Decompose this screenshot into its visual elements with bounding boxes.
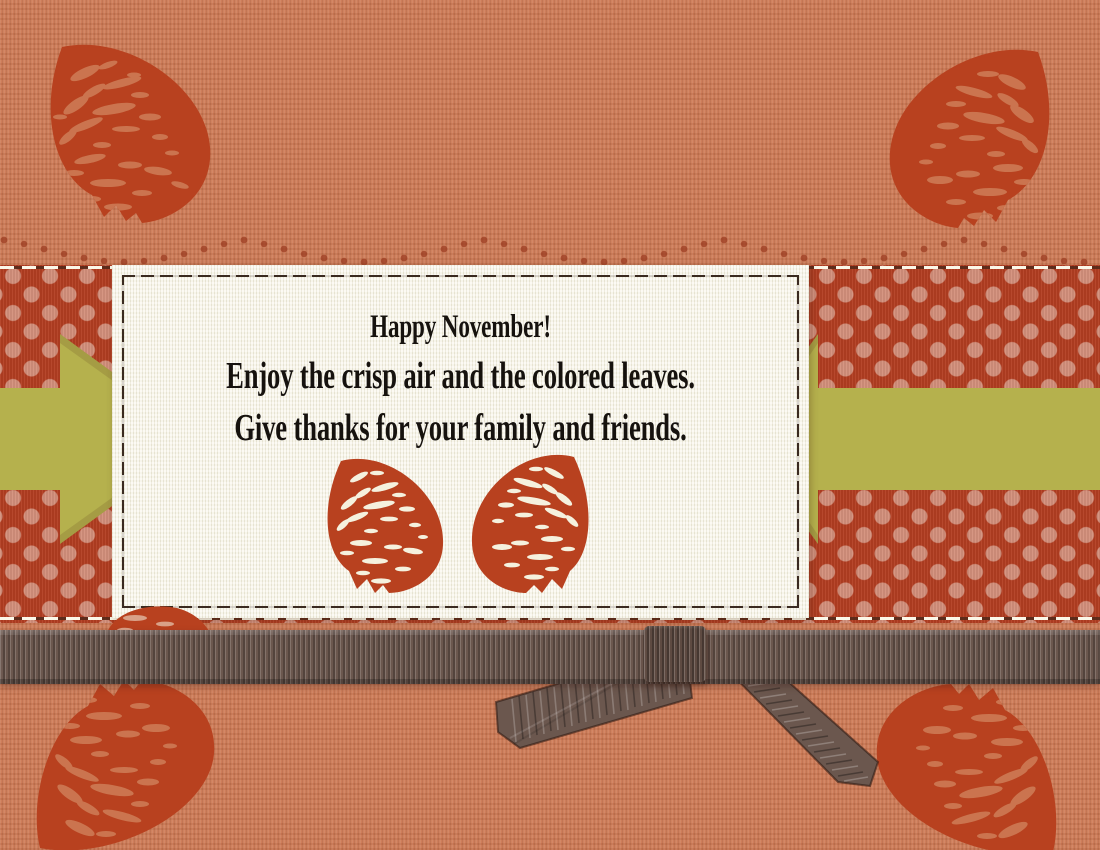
message-line-2: Enjoy the crisp air and the colored leav… [217,350,705,402]
message-line-1: Happy November! [217,305,705,350]
leaf-card-right-icon [470,445,598,595]
card-stitch-bottom [122,606,799,608]
ribbon-edge-bottom [0,679,1100,684]
ribbon-edge-top [0,630,1100,635]
leaf-top-right-icon [880,30,1070,230]
leaf-card-left-icon [319,447,447,595]
ribbon-bow-icon [644,626,706,682]
card-stitch-top [122,275,799,277]
greeting-message: Happy November! Enjoy the crisp air and … [112,305,809,454]
scrapbook-canvas: Happy November! Enjoy the crisp air and … [0,0,1100,850]
message-line-3: Give thanks for your family and friends. [217,402,705,454]
leaf-bottom-right-icon [862,682,1067,850]
leaf-top-left-icon [30,25,220,225]
ribbon-band [0,630,1100,684]
leaf-bottom-left-icon [30,678,230,850]
message-card: Happy November! Enjoy the crisp air and … [112,265,809,618]
